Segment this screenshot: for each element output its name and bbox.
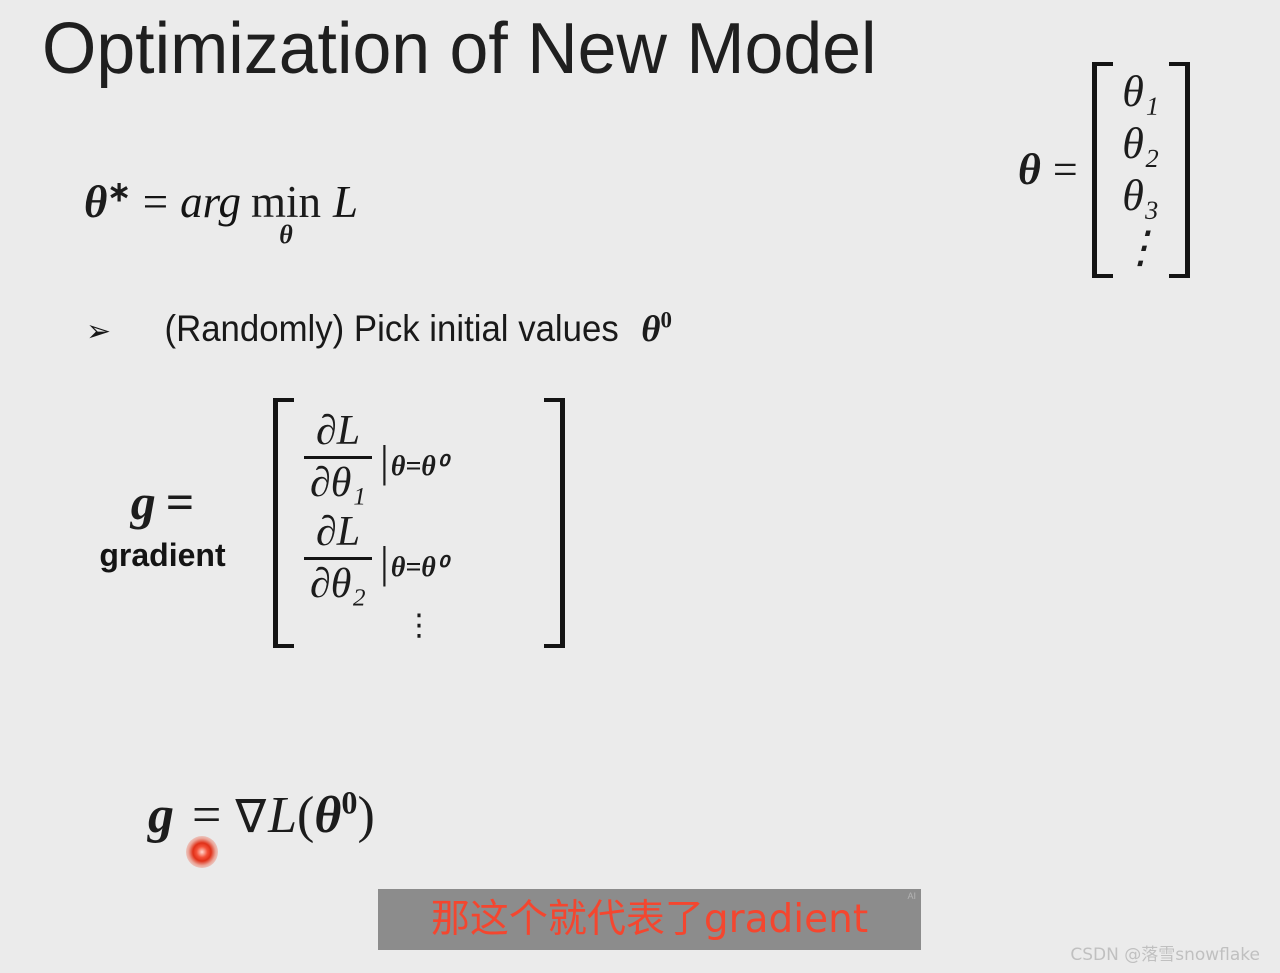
bracket-right-icon: [1169, 62, 1190, 278]
gradient-symbol-line: g=: [60, 473, 265, 531]
theta-vector-bracket: θ₁ θ₂ θ₃ ⋮: [1092, 62, 1190, 278]
gradient-matrix-bracket: ∂L ∂θ₁ | θ=θ⁰ ∂L ∂θ₂ | θ=θ⁰: [273, 398, 565, 648]
subtitle-bar: 那这个就代表了gradient AI: [378, 889, 921, 950]
nabla-formula-loss: L: [268, 786, 297, 845]
theta-vector-equals: =: [1053, 144, 1078, 195]
theta-vector-vdots: ⋮: [1119, 222, 1163, 274]
slide-canvas: Optimization of New Model θ∗ = arg min θ…: [0, 0, 1280, 973]
bullet-theta-superscript: 0: [660, 308, 671, 333]
partial-derivative-fraction: ∂L ∂θ₂: [304, 509, 372, 608]
subtitle-text: 那这个就代表了gradient: [431, 900, 868, 939]
theta-vector-row: θ₁: [1119, 66, 1163, 118]
evaluation-point: θ=θ⁰: [391, 449, 447, 483]
nabla-formula-gradient-symbol: g: [148, 786, 174, 845]
gradient-matrix-entries: ∂L ∂θ₁ | θ=θ⁰ ∂L ∂θ₂ | θ=θ⁰: [294, 398, 544, 648]
fraction-denominator: ∂θ₂: [304, 561, 372, 608]
argmin-loss-symbol: L: [333, 176, 358, 228]
bullet-list-item: ➢ (Randomly) Pick initial values θ0: [86, 308, 672, 351]
evaluation-point: θ=θ⁰: [391, 550, 447, 584]
argmin-formula: θ∗ = arg min θ L: [84, 176, 358, 248]
theta-vector-entries: θ₁ θ₂ θ₃ ⋮: [1113, 62, 1169, 278]
gradient-entry: ∂L ∂θ₂ | θ=θ⁰: [304, 509, 534, 608]
ai-watermark-label: AI: [907, 891, 916, 901]
fraction-numerator: ∂L: [310, 509, 366, 556]
bullet-theta-symbol: θ0: [641, 308, 672, 351]
argmin-arg-word: arg: [180, 176, 241, 228]
fraction-rule: [304, 557, 372, 560]
nabla-formula-theta-superscript: 0: [341, 785, 357, 821]
nabla-formula-close-paren: ): [357, 786, 374, 845]
theta-vector-row: θ₂: [1119, 118, 1163, 170]
argmin-min-subscript: θ: [279, 222, 293, 248]
gradient-equals: =: [166, 474, 195, 530]
gradient-caption: gradient: [60, 537, 265, 574]
nabla-formula-equals: =: [192, 786, 221, 845]
bracket-left-icon: [273, 398, 294, 648]
nabla-formula-theta: θ0: [314, 786, 357, 845]
arrow-bullet-icon: ➢: [86, 314, 150, 349]
argmin-min-stack: min θ: [251, 181, 321, 248]
gradient-entry: ∂L ∂θ₁ | θ=θ⁰: [304, 408, 534, 507]
evaluation-bar-icon: |: [380, 537, 389, 588]
fraction-denominator: ∂θ₁: [304, 460, 372, 507]
site-watermark: CSDN @落雪snowflake: [1070, 940, 1260, 965]
nabla-icon: ∇: [235, 789, 266, 843]
page-title: Optimization of New Model: [42, 8, 877, 90]
argmin-theta-symbol: θ∗: [84, 176, 131, 228]
gradient-definition: g= gradient ∂L ∂θ₁ | θ=θ⁰ ∂L: [60, 398, 565, 648]
partial-derivative-fraction: ∂L ∂θ₁: [304, 408, 372, 507]
gradient-nabla-formula: g = ∇ L ( θ0 ): [148, 786, 375, 845]
argmin-min-word: min: [251, 181, 321, 224]
argmin-star: ∗: [107, 177, 130, 208]
bullet-item-label: (Randomly) Pick initial values: [164, 308, 618, 350]
gradient-symbol: g: [131, 474, 156, 530]
fraction-numerator: ∂L: [310, 408, 366, 455]
gradient-matrix-vdots: ⋮: [304, 614, 534, 638]
bracket-right-icon: [544, 398, 565, 648]
theta-vector-lhs: θ: [1018, 144, 1041, 195]
bracket-left-icon: [1092, 62, 1113, 278]
gradient-lhs: g= gradient: [60, 473, 265, 574]
fraction-rule: [304, 456, 372, 459]
theta-vector-row: θ₃: [1119, 170, 1163, 222]
nabla-formula-open-paren: (: [297, 786, 314, 845]
theta-column-vector: θ = θ₁ θ₂ θ₃ ⋮: [1018, 62, 1190, 278]
evaluation-bar-icon: |: [380, 436, 389, 487]
argmin-equals: =: [143, 176, 168, 228]
